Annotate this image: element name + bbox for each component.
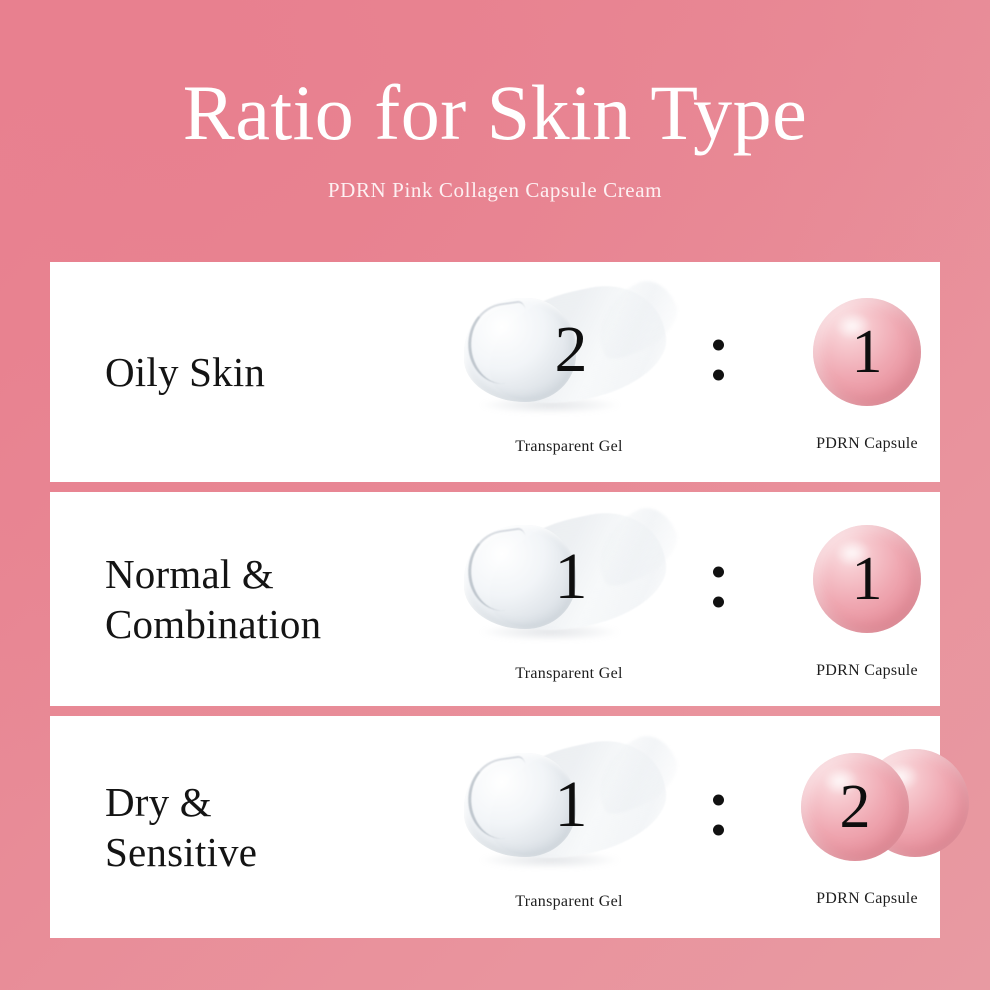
gel-ratio-value: 1 xyxy=(458,743,680,871)
transparent-gel-icon: 1 xyxy=(458,515,680,643)
capsule-caption: PDRN Capsule xyxy=(756,435,978,453)
capsule-ratio-value: 1 xyxy=(813,525,921,633)
gel-caption: Transparent Gel xyxy=(458,438,680,456)
pdrn-capsule-group: 1 PDRN Capsule xyxy=(756,291,978,453)
gel-ratio-value: 2 xyxy=(458,288,680,416)
ratio-separator xyxy=(713,795,724,836)
transparent-gel-group: 1 Transparent Gel xyxy=(458,743,680,911)
page-subtitle: PDRN Pink Collagen Capsule Cream xyxy=(0,178,990,203)
ratio-card-list: Oily Skin 2 Transparent Gel 1 PDRN Capsu… xyxy=(50,262,940,938)
ratio-separator xyxy=(713,340,724,381)
ratio-card-normal-combination: Normal & Combination 1 Transparent Gel 1… xyxy=(50,492,940,706)
pdrn-capsule-icon: 1 xyxy=(756,291,978,413)
colon-dot-bottom xyxy=(713,597,724,608)
pdrn-capsule-icon: 1 xyxy=(756,518,978,640)
ratio-separator xyxy=(713,567,724,608)
skin-type-label: Oily Skin xyxy=(105,347,265,397)
transparent-gel-icon: 1 xyxy=(458,743,680,871)
pdrn-capsule-group: 2 PDRN Capsule xyxy=(756,746,978,908)
transparent-gel-group: 1 Transparent Gel xyxy=(458,515,680,683)
ratio-card-dry-sensitive: Dry & Sensitive 1 Transparent Gel 2 PDR xyxy=(50,716,940,938)
transparent-gel-group: 2 Transparent Gel xyxy=(458,288,680,456)
capsule-caption: PDRN Capsule xyxy=(756,662,978,680)
page-title: Ratio for Skin Type xyxy=(0,74,990,152)
skin-type-label: Dry & Sensitive xyxy=(105,777,257,877)
ratio-card-oily-skin: Oily Skin 2 Transparent Gel 1 PDRN Capsu… xyxy=(50,262,940,482)
colon-dot-bottom xyxy=(713,370,724,381)
colon-dot-bottom xyxy=(713,825,724,836)
gel-ratio-value: 1 xyxy=(458,515,680,643)
pdrn-capsule-group: 1 PDRN Capsule xyxy=(756,518,978,680)
capsule-ratio-value: 1 xyxy=(813,298,921,406)
capsule-ratio-value: 2 xyxy=(801,753,909,861)
pdrn-capsule-icon: 2 xyxy=(756,746,978,868)
transparent-gel-icon: 2 xyxy=(458,288,680,416)
gel-caption: Transparent Gel xyxy=(458,665,680,683)
colon-dot-top xyxy=(713,795,724,806)
colon-dot-top xyxy=(713,340,724,351)
gel-caption: Transparent Gel xyxy=(458,893,680,911)
skin-type-label: Normal & Combination xyxy=(105,549,321,649)
colon-dot-top xyxy=(713,567,724,578)
capsule-caption: PDRN Capsule xyxy=(756,890,978,908)
page-header: Ratio for Skin Type PDRN Pink Collagen C… xyxy=(0,0,990,203)
